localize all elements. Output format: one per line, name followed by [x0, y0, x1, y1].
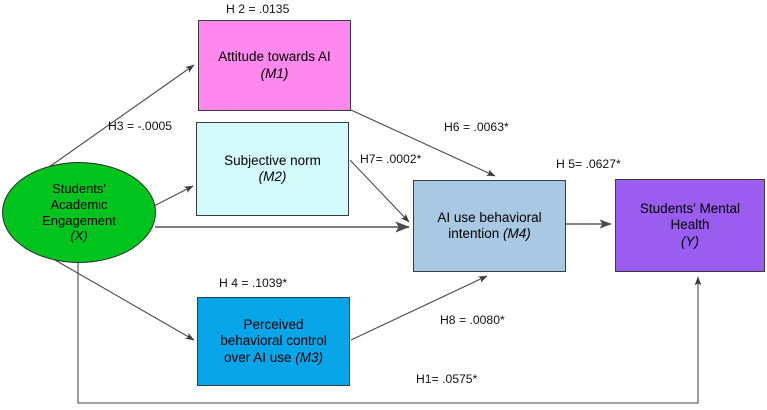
node-m3-label: Perceived behavioral control over AI use… [214, 317, 333, 366]
edge-path-x-to-y-direct [78, 262, 698, 403]
node-perceived-behavioral-control[interactable]: Perceived behavioral control over AI use… [197, 297, 350, 386]
edge-path-m3-to-m4 [351, 276, 487, 340]
edge-path-m2-to-m4 [350, 160, 409, 222]
edge-label-h5: H 5= .0627* [556, 157, 621, 171]
node-y-label: Students' Mental Health (Y) [634, 201, 746, 250]
node-subjective-norm[interactable]: Subjective norm (M2) [196, 122, 349, 216]
edge-label-h7: H7= .0002* [360, 152, 421, 166]
diagram-canvas: Students' Academic Engagement (X) Attitu… [0, 0, 767, 410]
edge-label-h8: H8 = .0080* [440, 313, 505, 327]
node-students-mental-health[interactable]: Students' Mental Health (Y) [615, 179, 765, 272]
node-attitude-towards-ai[interactable]: Attitude towards AI (M1) [198, 20, 351, 111]
node-ai-use-behavioral-intention[interactable]: AI use behavioral intention (M4) [413, 180, 566, 272]
edge-label-h1: H1= .0575* [416, 372, 477, 386]
edge-label-h3: H3 = -.0005 [108, 119, 172, 133]
node-m3-tag: (M3) [295, 350, 323, 365]
node-m1-label: Attitude towards AI (M1) [212, 49, 337, 82]
node-m2-label: Subjective norm (M2) [218, 153, 327, 186]
edge-label-h4: H 4 = .1039* [219, 276, 287, 290]
node-students-academic-engagement[interactable]: Students' Academic Engagement (X) [2, 162, 156, 263]
node-m4-tag: (M4) [503, 226, 531, 241]
edge-path-x-to-m3 [48, 256, 194, 340]
node-x-tag: (X) [70, 228, 87, 243]
node-x-label: Students' Academic Engagement (X) [36, 181, 122, 243]
node-m2-tag: (M2) [259, 169, 287, 184]
node-m4-label: AI use behavioral intention (M4) [431, 210, 547, 243]
edge-label-h6: H6 = .0063* [444, 120, 509, 134]
edge-label-h2: H 2 = .0135 [226, 2, 289, 16]
node-y-tag: (Y) [681, 234, 699, 249]
node-m1-tag: (M1) [261, 66, 289, 81]
